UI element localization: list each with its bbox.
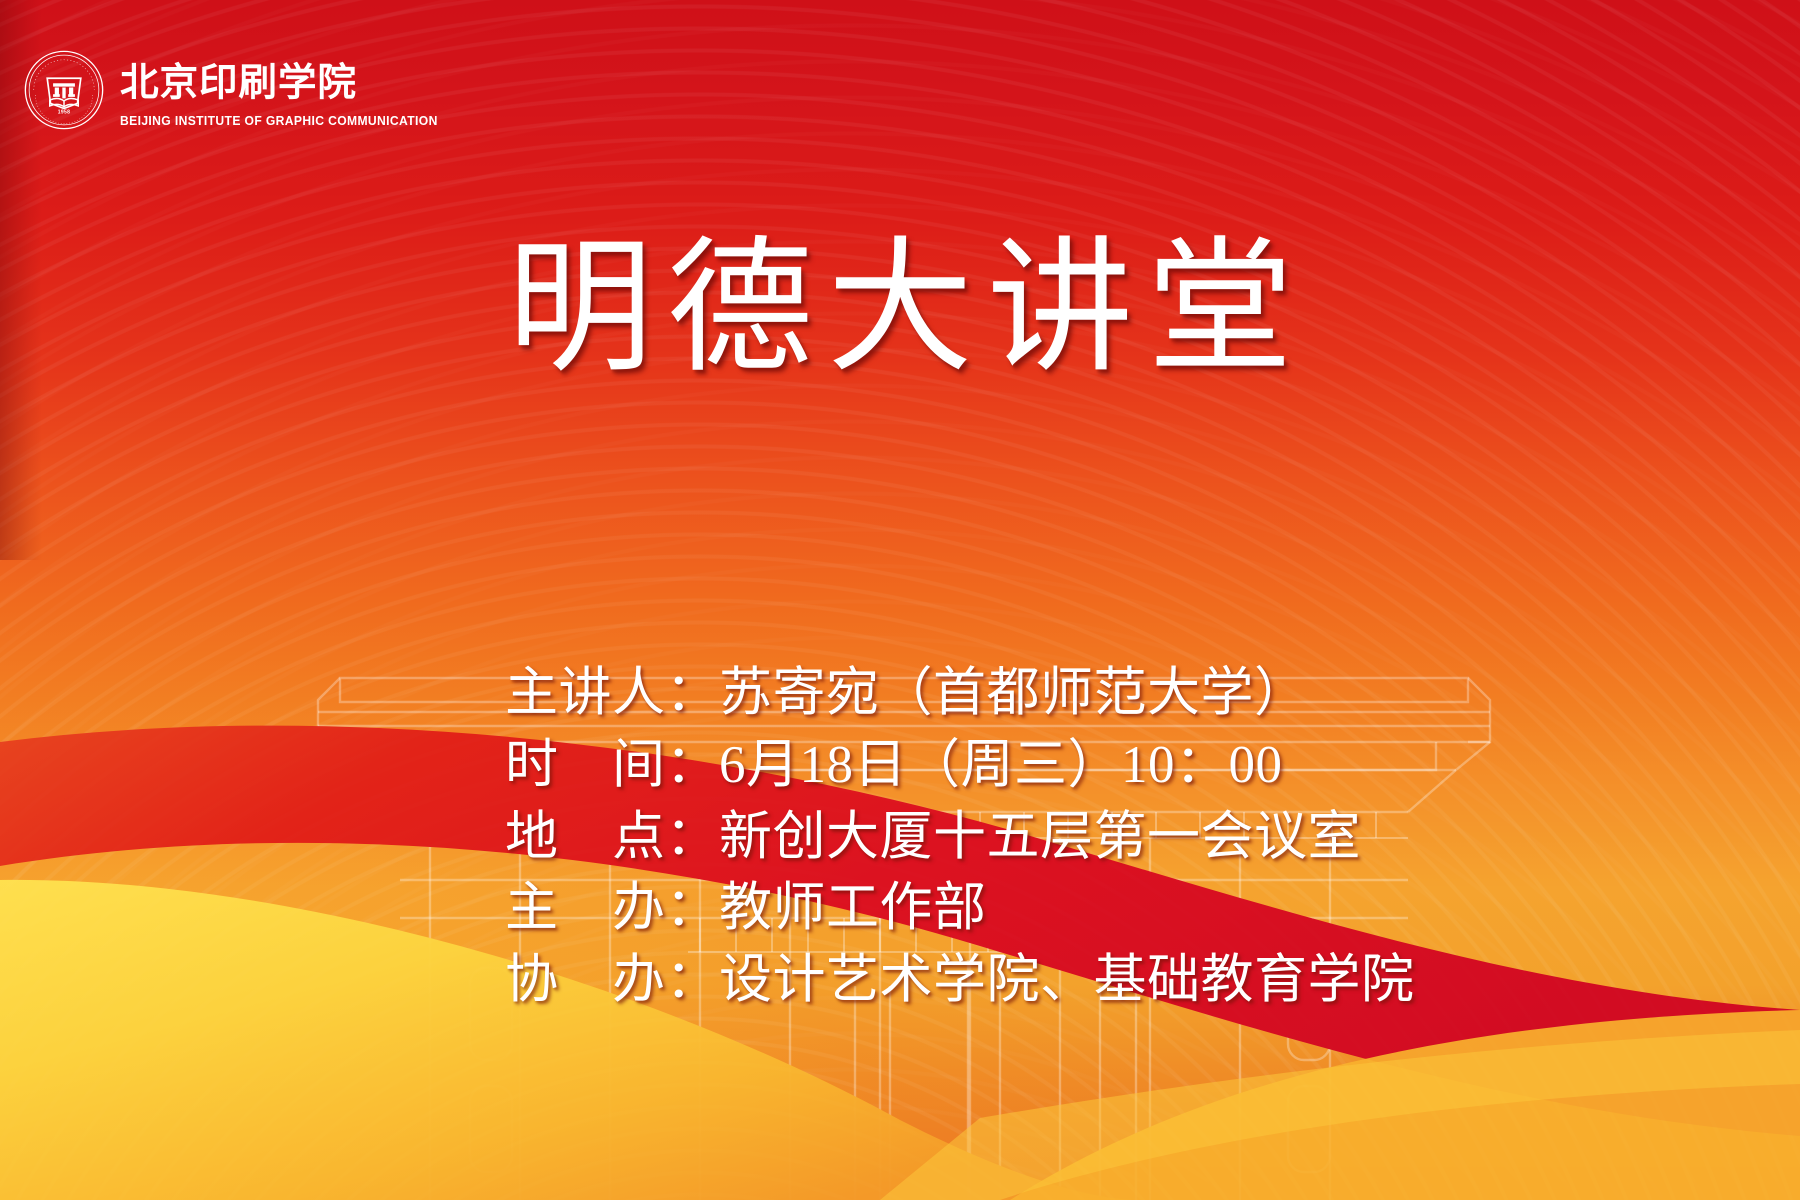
page-title: 明德大讲堂 bbox=[0, 228, 1800, 392]
detail-line-cohost: 协 办：设计艺术学院、基础教育学院 bbox=[505, 945, 1415, 1017]
institution-name-cn-mark: 北京印刷学院 bbox=[120, 53, 372, 111]
institution-name-en: BEIJING INSTITUTE OF GRAPHIC COMMUNICATI… bbox=[120, 114, 438, 128]
background-glow bbox=[0, 0, 1800, 1200]
detail-line-location: 地 点：新创大厦十五层第一会议室 bbox=[505, 802, 1415, 874]
detail-line-speaker: 主讲人：苏寄宛（首都师范大学） bbox=[505, 658, 1415, 730]
bigc-seal-emblem: 1958 bbox=[22, 48, 106, 132]
event-details-block: 主讲人：苏寄宛（首都师范大学） 时 间：6月18日（周三）10：00 地 点：新… bbox=[505, 658, 1415, 1017]
institution-name-cn: 北京印刷学院 bbox=[120, 61, 357, 104]
poster-canvas: 1958 北京印刷学院 BEIJING INSTITUTE OF GRAPHIC… bbox=[0, 0, 1800, 1200]
detail-line-host: 主 办：教师工作部 bbox=[505, 873, 1415, 945]
detail-line-time: 时 间：6月18日（周三）10：00 bbox=[505, 730, 1415, 802]
svg-text:1958: 1958 bbox=[58, 110, 71, 116]
institution-logo: 1958 北京印刷学院 BEIJING INSTITUTE OF GRAPHIC… bbox=[22, 48, 448, 132]
